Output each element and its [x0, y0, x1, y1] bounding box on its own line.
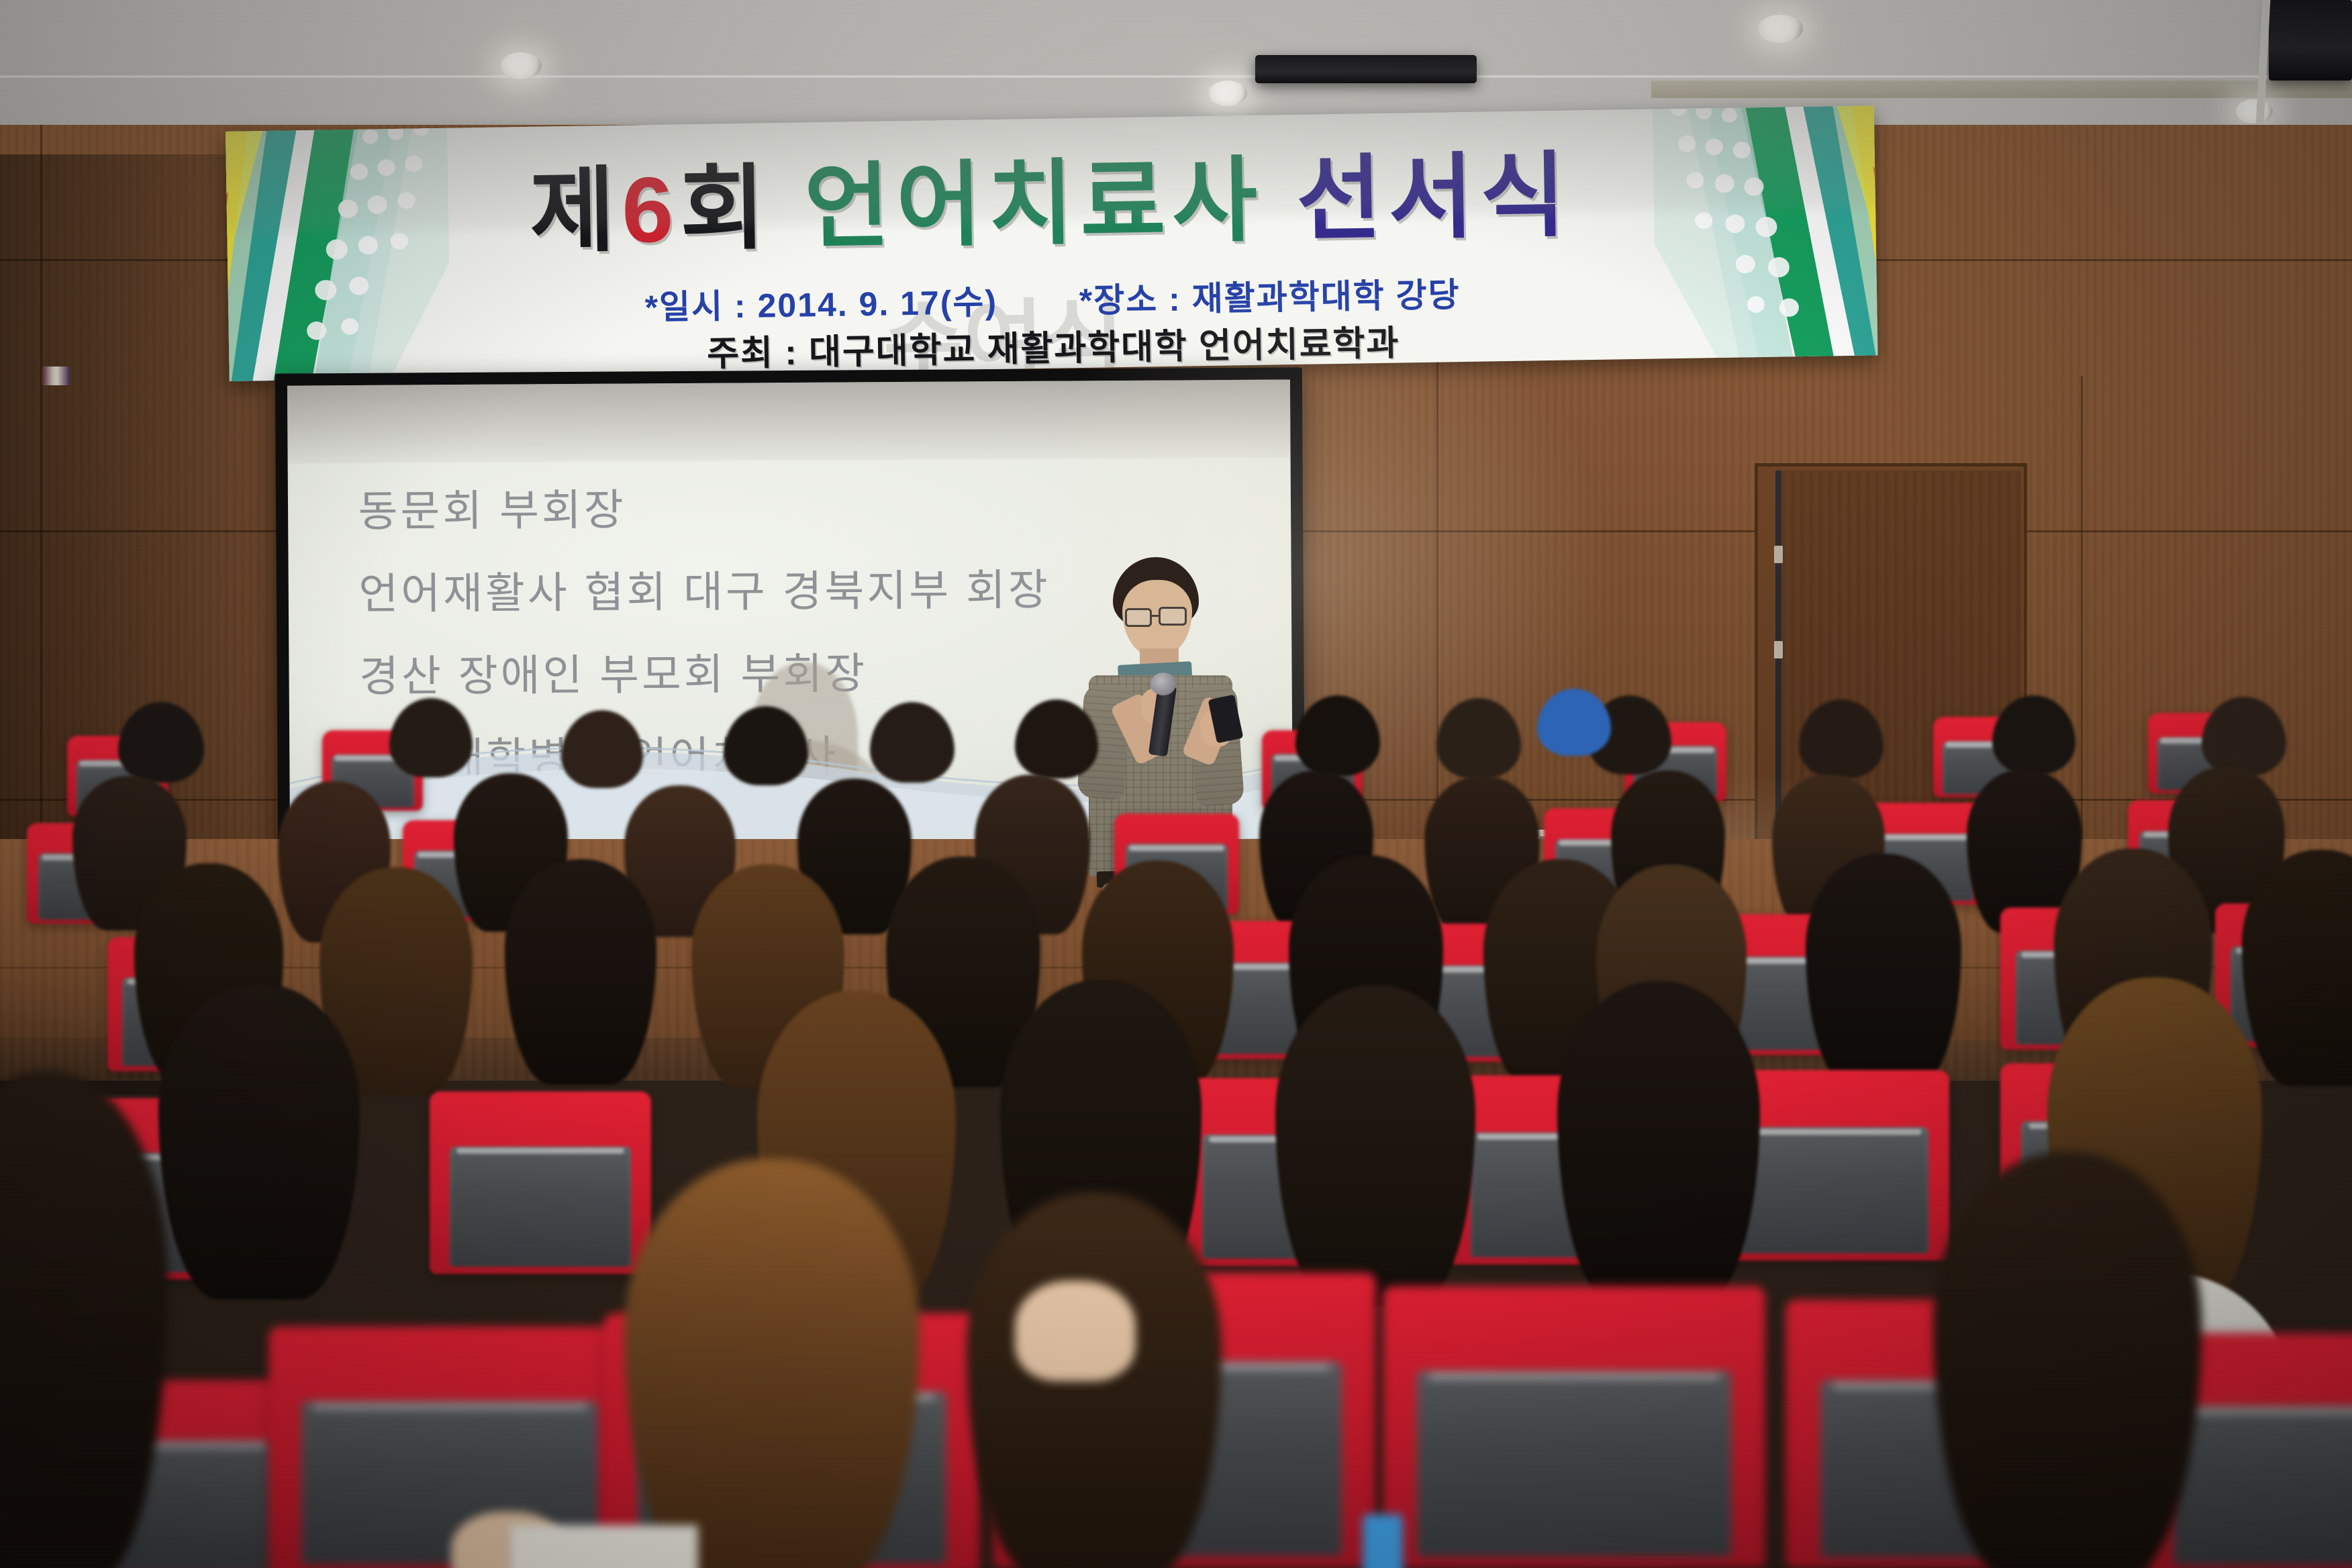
- audience-head-with-cap: [1537, 689, 1611, 756]
- event-banner: 수여식 제6회 언어치료사 선서식 *일시 : 2014. 9. 17(수) *…: [226, 105, 1878, 381]
- banner-wave-graphic-mirror: [1653, 105, 1878, 358]
- door-hinge-icon: [1774, 641, 1783, 658]
- handout-paper: [510, 1525, 698, 1568]
- audience-raised-hand: [1015, 1281, 1136, 1381]
- chair-trim: [312, 1404, 587, 1410]
- downlight-icon: [2235, 99, 2273, 124]
- audience-hair-foreground: [624, 1159, 920, 1568]
- glasses-bridge-icon: [1150, 615, 1160, 617]
- audience-hair: [158, 984, 360, 1300]
- chair-trim: [456, 1148, 625, 1154]
- audience-head: [118, 702, 204, 783]
- chair-back-panel: [2173, 1406, 2352, 1565]
- audience-hair: [1557, 981, 1760, 1308]
- banner-title-part-2: 회: [679, 156, 773, 261]
- banner-title: 제6회 언어치료사 선서식: [447, 119, 1655, 272]
- banner-wave-left: [226, 128, 451, 381]
- downlight-icon: [1757, 15, 1803, 43]
- banner-wave-right: [1653, 105, 1878, 358]
- banner-spacer: [1008, 312, 1069, 313]
- ceiling-seam: [0, 75, 2352, 78]
- audience-head: [1015, 699, 1098, 779]
- chair-trim: [1875, 834, 1971, 840]
- audience-hair-foreground: [1933, 1152, 2202, 1568]
- audience-hair: [1806, 854, 1961, 1089]
- door-hinge-icon: [1774, 546, 1783, 563]
- banner-title-part-3: 언어치료사: [803, 149, 1265, 260]
- chair[interactable]: [1383, 1286, 1765, 1568]
- audience-head: [724, 706, 808, 785]
- banner-title-part-1: 6: [621, 158, 681, 262]
- audience-seating: [0, 695, 2352, 1568]
- audience-head: [389, 698, 473, 777]
- projector-mount-icon: [1255, 55, 1477, 83]
- microphone-head-icon: [1150, 673, 1176, 695]
- banner-title-part-0: 제: [529, 159, 622, 264]
- glasses-icon: [1125, 608, 1152, 627]
- banner-date-label: *일시 : 2014. 9. 17(수): [644, 283, 997, 326]
- audience-hair: [2242, 850, 2352, 1086]
- audience-head: [1295, 695, 1380, 776]
- pen-icon: [1363, 1514, 1403, 1568]
- audience-hair: [505, 859, 656, 1085]
- chair-trim: [1746, 1129, 1921, 1135]
- chair-back-panel: [450, 1146, 632, 1267]
- downlight-icon: [500, 52, 542, 79]
- audience-head: [1436, 698, 1521, 779]
- chair-trim: [2182, 1408, 2352, 1414]
- chair-trim: [1428, 1373, 1719, 1379]
- audience-head: [561, 710, 643, 788]
- chair-trim: [1129, 845, 1224, 851]
- audience-head: [1992, 695, 2075, 775]
- wall-device-icon: [42, 366, 70, 385]
- banner-wave-graphic: [226, 128, 451, 381]
- ceiling-speaker-icon: [2269, 0, 2352, 81]
- chair-back-panel: [1417, 1371, 1730, 1557]
- banner-place-label: *장소 : 재활과학대학 강당: [1079, 276, 1461, 320]
- ceiling-beam: [1651, 81, 2352, 98]
- audience-head: [2202, 697, 2286, 776]
- audience-head: [1799, 699, 1883, 779]
- screen-top-shading: [287, 379, 1291, 463]
- audience-hair: [1275, 985, 1475, 1306]
- chair-back-panel: [1739, 1127, 1928, 1253]
- chair[interactable]: [430, 1091, 651, 1274]
- downlight-icon: [1208, 81, 1247, 106]
- banner-title-part-4: 선서식: [1295, 144, 1573, 252]
- auditorium-photo: 수여식 제6회 언어치료사 선서식 *일시 : 2014. 9. 17(수) *…: [0, 0, 2352, 1568]
- audience-head: [870, 702, 954, 783]
- glasses-icon: [1159, 607, 1187, 626]
- slide-line-0: 동문회 부회장: [358, 472, 1230, 539]
